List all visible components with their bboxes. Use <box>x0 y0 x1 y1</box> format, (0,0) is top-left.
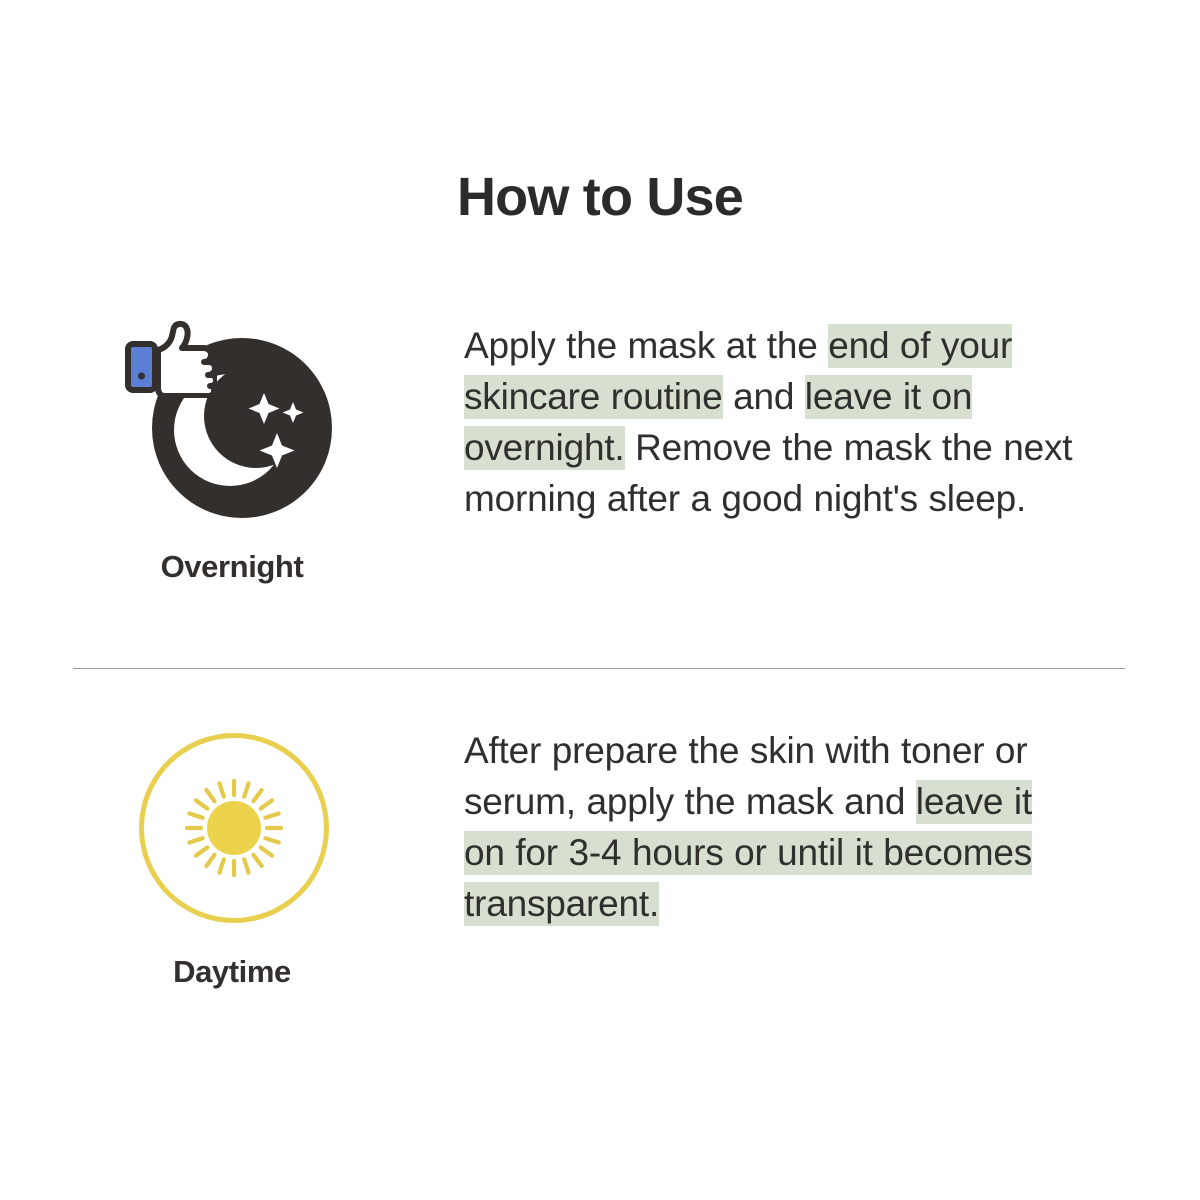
sun-ray <box>219 859 223 872</box>
step-daytime-text-column: After prepare the skin with toner or ser… <box>464 725 1200 929</box>
page-title: How to Use <box>0 168 1200 227</box>
sun-glyph <box>170 764 298 892</box>
step-overnight: Overnight Apply the mask at the end of y… <box>0 320 1200 582</box>
thumb-cuff <box>128 344 155 390</box>
sun-ray <box>195 800 206 808</box>
body-text: Apply the mask at the <box>464 325 828 366</box>
sun-ray <box>195 847 206 855</box>
sun-ray <box>206 790 214 801</box>
step-daytime-icon-column: Daytime <box>0 725 464 987</box>
sun-ray <box>189 838 202 842</box>
sun-disc <box>207 801 261 855</box>
step-overnight-text-column: Apply the mask at the end of your skinca… <box>464 320 1200 524</box>
sun-ray <box>265 813 278 817</box>
sun-ray <box>219 783 223 796</box>
sun-ray <box>244 859 248 872</box>
sun-ray <box>253 790 261 801</box>
sun-ray <box>206 855 214 866</box>
sun-icon <box>125 725 340 940</box>
section-divider <box>73 668 1125 669</box>
step-overnight-icon-column: Overnight <box>0 320 464 582</box>
body-text: and <box>723 376 805 417</box>
how-to-use-page: How to Use <box>0 0 1200 1200</box>
step-daytime-label: Daytime <box>173 956 291 987</box>
step-daytime: Daytime After prepare the skin with tone… <box>0 725 1200 987</box>
thumbs-up-icon <box>125 320 217 398</box>
sun-ray <box>265 838 278 842</box>
thumb-hand <box>158 324 216 396</box>
sun-ray <box>189 813 202 817</box>
sun-ray <box>253 855 261 866</box>
step-overnight-label: Overnight <box>161 551 304 582</box>
step-overnight-description: Apply the mask at the end of your skinca… <box>464 320 1080 524</box>
moon-stars-thumbs-up-icon <box>125 320 340 535</box>
step-daytime-description: After prepare the skin with toner or ser… <box>464 725 1080 929</box>
sun-ray <box>260 847 271 855</box>
thumb-cuff-dot <box>138 373 145 380</box>
sun-ray <box>244 783 248 796</box>
sun-ray <box>260 800 271 808</box>
